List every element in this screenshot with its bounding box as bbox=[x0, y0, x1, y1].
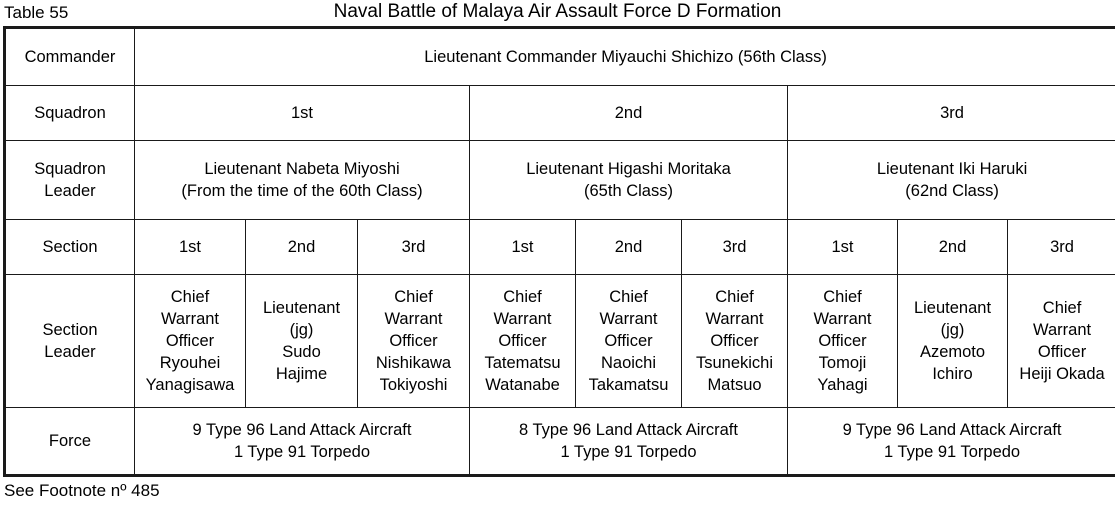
section-leader-2-3: ChiefWarrantOfficerTsunekichiMatsuo bbox=[682, 275, 788, 408]
formation-table: Commander Lieutenant Commander Miyauchi … bbox=[3, 26, 1115, 477]
force-value-2: 8 Type 96 Land Attack Aircraft 1 Type 91… bbox=[470, 408, 788, 476]
section-leader-line: (jg) bbox=[901, 319, 1004, 341]
table-row-force: Force 9 Type 96 Land Attack Aircraft 1 T… bbox=[5, 408, 1115, 476]
row-label-line: Section bbox=[9, 319, 131, 341]
page-title: Naval Battle of Malaya Air Assault Force… bbox=[0, 0, 1115, 24]
section-leader-line: Warrant bbox=[791, 308, 894, 330]
section-leader-line: Tokiyoshi bbox=[361, 374, 466, 396]
section-ordinal-3-3: 3rd bbox=[1008, 220, 1115, 275]
squadron-leader-class: (62nd Class) bbox=[791, 180, 1113, 202]
squadron-leader-class: (From the time of the 60th Class) bbox=[138, 180, 466, 202]
section-leader-line: Ryouhei bbox=[138, 352, 242, 374]
section-leader-line: Yahagi bbox=[791, 374, 894, 396]
section-leader-line: Chief bbox=[138, 286, 242, 308]
section-leader-line: Warrant bbox=[685, 308, 784, 330]
section-leader-line: Officer bbox=[361, 330, 466, 352]
table-row-commander: Commander Lieutenant Commander Miyauchi … bbox=[5, 28, 1115, 86]
section-leader-line: Tatematsu bbox=[473, 352, 572, 374]
section-ordinal-3-1: 1st bbox=[788, 220, 898, 275]
section-ordinal-1-2: 2nd bbox=[246, 220, 358, 275]
row-label-line: Squadron bbox=[9, 158, 131, 180]
squadron-leader-3: Lieutenant Iki Haruki (62nd Class) bbox=[788, 141, 1115, 220]
section-leader-line: Tsunekichi bbox=[685, 352, 784, 374]
section-leader-line: Heiji Okada bbox=[1011, 363, 1113, 385]
section-leader-line: (jg) bbox=[249, 319, 354, 341]
squadron-ordinal-1: 1st bbox=[135, 86, 470, 141]
squadron-leader-name: Lieutenant Iki Haruki bbox=[791, 158, 1113, 180]
table-row-squadron-leader: Squadron Leader Lieutenant Nabeta Miyosh… bbox=[5, 141, 1115, 220]
squadron-leader-name: Lieutenant Higashi Moritaka bbox=[473, 158, 784, 180]
section-leader-line: Yanagisawa bbox=[138, 374, 242, 396]
section-leader-3-3: ChiefWarrantOfficerHeiji Okada bbox=[1008, 275, 1115, 408]
section-leader-line: Chief bbox=[579, 286, 678, 308]
section-ordinal-1-1: 1st bbox=[135, 220, 246, 275]
section-leader-line: Warrant bbox=[361, 308, 466, 330]
force-aircraft: 8 Type 96 Land Attack Aircraft bbox=[473, 419, 784, 441]
force-aircraft: 9 Type 96 Land Attack Aircraft bbox=[138, 419, 466, 441]
section-leader-line: Nishikawa bbox=[361, 352, 466, 374]
section-ordinal-2-2: 2nd bbox=[576, 220, 682, 275]
section-leader-line: Chief bbox=[1011, 297, 1113, 319]
section-leader-line: Officer bbox=[473, 330, 572, 352]
section-ordinal-1-3: 3rd bbox=[358, 220, 470, 275]
force-value-1: 9 Type 96 Land Attack Aircraft 1 Type 91… bbox=[135, 408, 470, 476]
section-leader-line: Chief bbox=[791, 286, 894, 308]
force-value-3: 9 Type 96 Land Attack Aircraft 1 Type 91… bbox=[788, 408, 1115, 476]
page-header: Table 55 Naval Battle of Malaya Air Assa… bbox=[0, 0, 1115, 26]
squadron-ordinal-3: 3rd bbox=[788, 86, 1115, 141]
row-label-section: Section bbox=[5, 220, 135, 275]
squadron-leader-name: Lieutenant Nabeta Miyoshi bbox=[138, 158, 466, 180]
section-leader-line: Watanabe bbox=[473, 374, 572, 396]
section-leader-line: Officer bbox=[791, 330, 894, 352]
section-leader-1-2: Lieutenant(jg)SudoHajime bbox=[246, 275, 358, 408]
section-leader-line: Chief bbox=[473, 286, 572, 308]
section-leader-line: Tomoji bbox=[791, 352, 894, 374]
section-leader-1-1: ChiefWarrantOfficerRyouheiYanagisawa bbox=[135, 275, 246, 408]
footnote-reference: See Footnote nº 485 bbox=[4, 480, 1115, 502]
section-leader-1-3: ChiefWarrantOfficerNishikawaTokiyoshi bbox=[358, 275, 470, 408]
section-leader-line: Sudo bbox=[249, 341, 354, 363]
section-leader-line: Naoichi bbox=[579, 352, 678, 374]
section-leader-line: Officer bbox=[138, 330, 242, 352]
section-leader-line: Matsuo bbox=[685, 374, 784, 396]
section-leader-2-1: ChiefWarrantOfficerTatematsuWatanabe bbox=[470, 275, 576, 408]
section-leader-line: Lieutenant bbox=[901, 297, 1004, 319]
squadron-leader-1: Lieutenant Nabeta Miyoshi (From the time… bbox=[135, 141, 470, 220]
row-label-section-leader: Section Leader bbox=[5, 275, 135, 408]
section-leader-line: Azemoto bbox=[901, 341, 1004, 363]
row-label-squadron: Squadron bbox=[5, 86, 135, 141]
force-aircraft: 9 Type 96 Land Attack Aircraft bbox=[791, 419, 1113, 441]
section-ordinal-2-3: 3rd bbox=[682, 220, 788, 275]
section-leader-line: Officer bbox=[1011, 341, 1113, 363]
squadron-leader-2: Lieutenant Higashi Moritaka (65th Class) bbox=[470, 141, 788, 220]
section-leader-line: Warrant bbox=[579, 308, 678, 330]
commander-value: Lieutenant Commander Miyauchi Shichizo (… bbox=[135, 28, 1115, 86]
squadron-leader-class: (65th Class) bbox=[473, 180, 784, 202]
table-row-section-leader: Section Leader ChiefWarrantOfficerRyouhe… bbox=[5, 275, 1115, 408]
section-leader-line: Chief bbox=[685, 286, 784, 308]
section-leader-line: Officer bbox=[579, 330, 678, 352]
squadron-ordinal-2: 2nd bbox=[470, 86, 788, 141]
section-leader-2-2: ChiefWarrantOfficerNaoichiTakamatsu bbox=[576, 275, 682, 408]
table-page: Table 55 Naval Battle of Malaya Air Assa… bbox=[0, 0, 1115, 512]
section-leader-3-2: Lieutenant(jg)AzemotoIchiro bbox=[898, 275, 1008, 408]
row-label-line: Leader bbox=[9, 341, 131, 363]
section-ordinal-2-1: 1st bbox=[470, 220, 576, 275]
section-leader-line: Warrant bbox=[1011, 319, 1113, 341]
section-leader-line: Hajime bbox=[249, 363, 354, 385]
row-label-line: Leader bbox=[9, 180, 131, 202]
section-leader-3-1: ChiefWarrantOfficerTomojiYahagi bbox=[788, 275, 898, 408]
table-row-section: Section 1st 2nd 3rd 1st 2nd 3rd 1st 2nd … bbox=[5, 220, 1115, 275]
row-label-force: Force bbox=[5, 408, 135, 476]
section-leader-line: Takamatsu bbox=[579, 374, 678, 396]
section-ordinal-3-2: 2nd bbox=[898, 220, 1008, 275]
section-leader-line: Warrant bbox=[138, 308, 242, 330]
section-leader-line: Lieutenant bbox=[249, 297, 354, 319]
force-torpedo: 1 Type 91 Torpedo bbox=[791, 441, 1113, 463]
row-label-squadron-leader: Squadron Leader bbox=[5, 141, 135, 220]
row-label-commander: Commander bbox=[5, 28, 135, 86]
table-row-squadron: Squadron 1st 2nd 3rd bbox=[5, 86, 1115, 141]
force-torpedo: 1 Type 91 Torpedo bbox=[473, 441, 784, 463]
force-torpedo: 1 Type 91 Torpedo bbox=[138, 441, 466, 463]
section-leader-line: Warrant bbox=[473, 308, 572, 330]
section-leader-line: Officer bbox=[685, 330, 784, 352]
section-leader-line: Ichiro bbox=[901, 363, 1004, 385]
section-leader-line: Chief bbox=[361, 286, 466, 308]
